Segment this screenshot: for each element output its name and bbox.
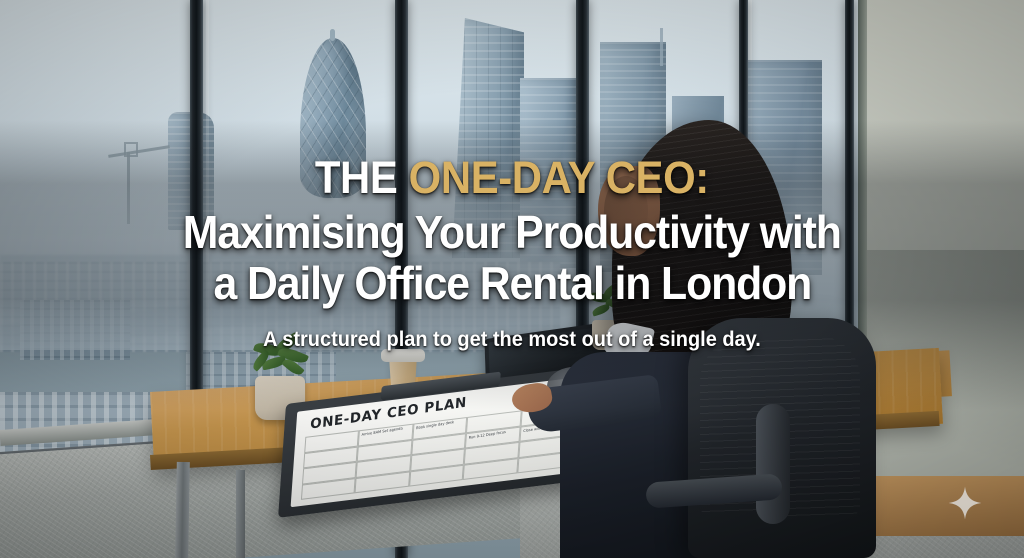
hero-banner: ONE-DAY CEO PLAN Arrive 8AM Set agenda B… [0,0,1024,558]
headline-line-2: Maximising Your Productivity with [183,209,841,255]
headline-line-3: a Daily Office Rental in London [213,260,811,306]
headline-line-1-accent: ONE-DAY CEO: [409,152,709,203]
headline-line-1: THE ONE-DAY CEO: [315,155,709,200]
headline-block: THE ONE-DAY CEO: Maximising Your Product… [0,0,1024,558]
sparkle-star-icon [948,486,982,520]
headline-subtitle: A structured plan to get the most out of… [263,328,761,352]
headline-line-1-prefix: THE [315,152,409,203]
